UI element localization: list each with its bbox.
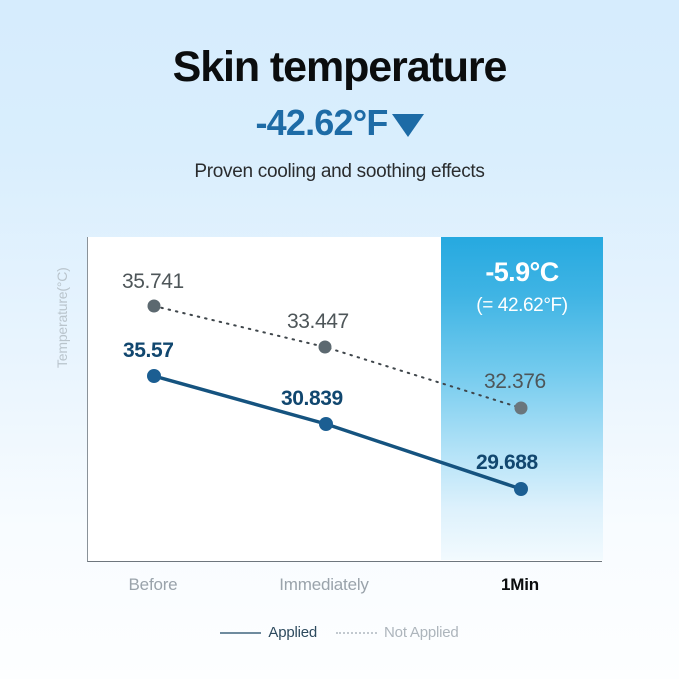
chart: Temperature(°C) 35.741 33.447 32.376 35.… bbox=[0, 0, 679, 679]
data-point-applied-immediately bbox=[319, 417, 333, 431]
data-point-applied-1min bbox=[514, 482, 528, 496]
value-label-not-applied-before: 35.741 bbox=[122, 271, 184, 292]
legend-item-not-applied: Not Applied bbox=[336, 624, 459, 641]
value-label-applied-before: 35.57 bbox=[123, 340, 174, 361]
data-point-not-applied-immediately bbox=[319, 341, 332, 354]
legend-solid-line-icon bbox=[220, 632, 261, 634]
data-point-not-applied-before bbox=[148, 300, 161, 313]
value-label-not-applied-1min: 32.376 bbox=[484, 371, 546, 392]
chart-legend: Applied Not Applied bbox=[0, 624, 679, 641]
value-label-not-applied-immediately: 33.447 bbox=[287, 311, 349, 332]
value-label-applied-immediately: 30.839 bbox=[281, 388, 343, 409]
legend-label-applied: Applied bbox=[268, 624, 317, 641]
x-tick-immediately: Immediately bbox=[244, 575, 404, 595]
legend-item-applied: Applied bbox=[220, 624, 317, 641]
x-tick-1min: 1Min bbox=[440, 575, 600, 595]
data-point-not-applied-1min bbox=[515, 402, 528, 415]
callout-main-value: -5.9°C bbox=[441, 259, 603, 286]
x-tick-before: Before bbox=[73, 575, 233, 595]
legend-dotted-line-icon bbox=[336, 632, 377, 634]
y-axis-label: Temperature(°C) bbox=[54, 238, 72, 368]
data-point-applied-before bbox=[147, 369, 161, 383]
value-label-applied-1min: 29.688 bbox=[476, 452, 538, 473]
callout-sub-value: (= 42.62°F) bbox=[441, 296, 603, 315]
callout-annotation: -5.9°C (= 42.62°F) bbox=[441, 259, 603, 315]
legend-label-not-applied: Not Applied bbox=[384, 624, 459, 641]
plot-area: 35.741 33.447 32.376 35.57 30.839 29.688… bbox=[87, 237, 602, 562]
